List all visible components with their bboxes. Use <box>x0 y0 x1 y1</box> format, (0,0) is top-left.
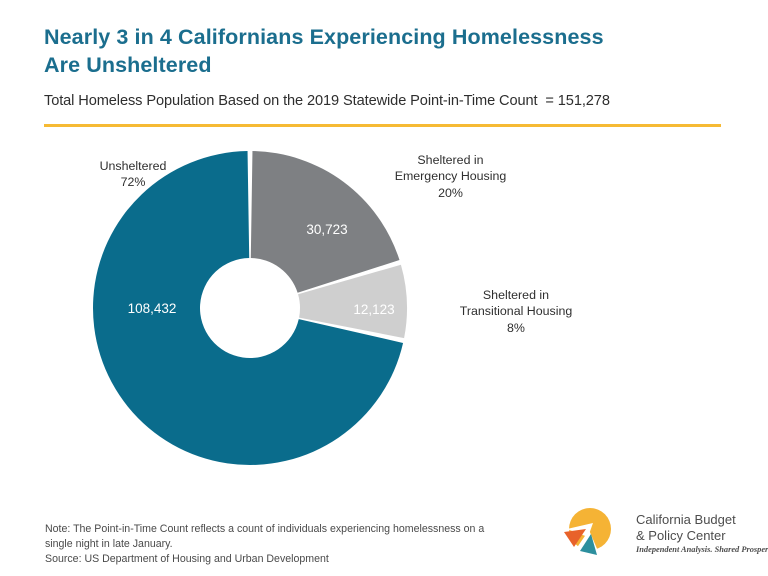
logo-tagline: Independent Analysis. Shared Prosperity. <box>636 545 768 554</box>
title-divider-rule <box>44 124 721 127</box>
callout-label-unsheltered: Unsheltered 72% <box>58 158 208 191</box>
chart-header: Nearly 3 in 4 Californians Experiencing … <box>44 24 734 109</box>
callout-label-transitional-housing: Sheltered in Transitional Housing 8% <box>418 287 614 336</box>
logo-text-block: California Budget & Policy Center Indepe… <box>636 512 768 555</box>
footnote-source: Source: US Department of Housing and Urb… <box>45 552 515 567</box>
footnote-note: Note: The Point-in-Time Count reflects a… <box>45 522 515 552</box>
callout-label-emergency-housing: Sheltered in Emergency Housing 20% <box>358 152 543 201</box>
slice-value-unsheltered: 108,432 <box>128 301 177 316</box>
slice-value-emergency-housing: 30,723 <box>306 222 347 237</box>
organization-logo: California Budget & Policy Center Indepe… <box>562 503 760 563</box>
chart-subtitle: Total Homeless Population Based on the 2… <box>44 93 734 109</box>
logo-organization-name: California Budget & Policy Center <box>636 512 768 544</box>
footnotes: Note: The Point-in-Time Count reflects a… <box>45 522 515 567</box>
page-title: Nearly 3 in 4 Californians Experiencing … <box>44 24 734 79</box>
slice-value-transitional-housing: 12,123 <box>353 302 394 317</box>
cbpc-logo-mark-icon <box>562 507 618 559</box>
